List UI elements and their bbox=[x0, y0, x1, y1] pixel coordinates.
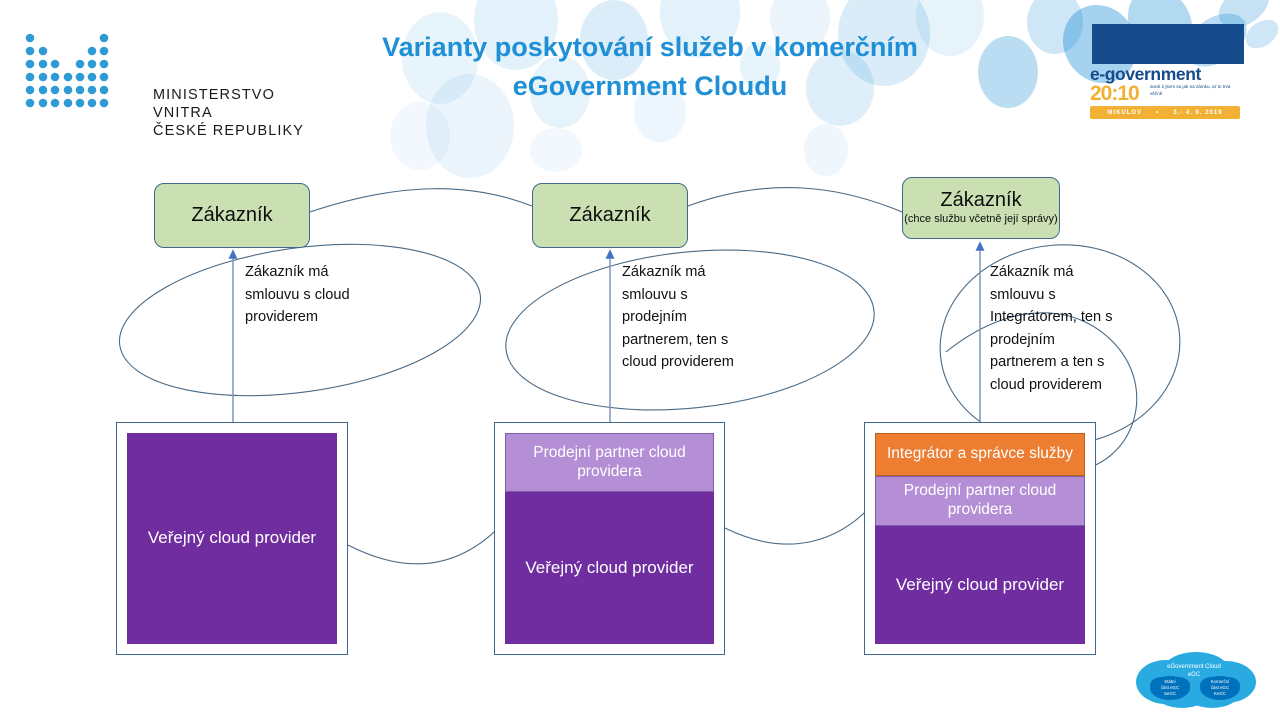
customer-title: Zákazník bbox=[191, 204, 272, 227]
egovernment-conference-logo: e-government 20:10 aneb 2 jsem sa jak na… bbox=[1086, 24, 1244, 114]
layer-integrator[interactable]: Integrátor a správce služby bbox=[875, 433, 1085, 476]
link-connector-1-2 bbox=[310, 189, 532, 212]
layer-sales-partner[interactable]: Prodejní partner cloud providera bbox=[505, 433, 714, 492]
egov-logo-banner bbox=[1092, 24, 1244, 64]
cloud-logo-state-2: část eGC bbox=[1161, 685, 1179, 690]
layer-public-cloud-provider[interactable]: Veřejný cloud provider bbox=[505, 492, 714, 644]
egov-logo-eventbar: MIKULOV • 3.- 4. 9. 2019 bbox=[1090, 106, 1240, 119]
contract-annotation-variant-1: Zákazník má smlouvu s cloud providerem bbox=[245, 261, 380, 329]
ministry-line-1: MINISTERSTVO VNITRA bbox=[153, 86, 318, 122]
layer-sales-partner[interactable]: Prodejní partner cloud providera bbox=[875, 476, 1085, 526]
link-connector-1-2-lower bbox=[348, 520, 506, 564]
page-title-line-1: Varianty poskytování služeb v komerčním bbox=[300, 28, 1000, 67]
customer-box-variant-2[interactable]: Zákazník bbox=[532, 183, 688, 248]
egov-logo-place: MIKULOV bbox=[1107, 110, 1142, 116]
layer-public-cloud-provider[interactable]: Veřejný cloud provider bbox=[127, 433, 337, 644]
cloud-logo-state-1: Státní bbox=[1164, 679, 1176, 684]
ministry-line-2: ČESKÉ REPUBLIKY bbox=[153, 122, 318, 140]
cloud-logo-state-3: SeGC bbox=[1164, 691, 1176, 696]
slide-canvas: MINISTERSTVO VNITRA ČESKÉ REPUBLIKY Vari… bbox=[0, 0, 1280, 720]
customer-subtitle: (chce službu včetně její správy) bbox=[904, 213, 1057, 226]
cloud-logo-commercial-3: KeGC bbox=[1214, 691, 1226, 696]
link-connector-2-3-lower bbox=[725, 505, 872, 544]
layer-public-cloud-provider[interactable]: Veřejný cloud provider bbox=[875, 526, 1085, 644]
provider-group-variant-3: Integrátor a správce služby Prodejní par… bbox=[864, 422, 1096, 655]
page-title-line-2: eGovernment Cloudu bbox=[300, 67, 1000, 106]
egovernment-cloud-logo: eGovernment Cloud eGC Státní část eGC Se… bbox=[1126, 648, 1262, 710]
cloud-logo-commercial-1: Komerční bbox=[1211, 679, 1231, 684]
customer-title: Zákazník bbox=[940, 189, 1021, 212]
provider-stack-variant-2: Prodejní partner cloud providera Veřejný… bbox=[505, 433, 714, 644]
customer-box-variant-1[interactable]: Zákazník bbox=[154, 183, 310, 248]
cloud-logo-commercial-2: část eGC bbox=[1211, 685, 1229, 690]
cloud-logo-title-1: eGovernment Cloud bbox=[1167, 664, 1221, 670]
ministry-of-interior-logo: MINISTERSTVO VNITRA ČESKÉ REPUBLIKY bbox=[18, 28, 318, 118]
egov-logo-year: 20:10 bbox=[1090, 82, 1139, 106]
customer-box-variant-3[interactable]: Zákazník (chce službu včetně její správy… bbox=[902, 177, 1060, 239]
provider-stack-variant-3: Integrátor a správce služby Prodejní par… bbox=[875, 433, 1085, 644]
cloud-logo-title-2: eGC bbox=[1188, 672, 1201, 678]
ministry-logo-text: MINISTERSTVO VNITRA ČESKÉ REPUBLIKY bbox=[153, 86, 318, 140]
contract-annotation-variant-2: Zákazník má smlouvu s prodejním partnere… bbox=[622, 261, 747, 374]
page-title: Varianty poskytování služeb v komerčním … bbox=[300, 28, 1000, 106]
egov-logo-tagline: aneb 2 jsem sa jak na zámku, ať to trvá … bbox=[1150, 84, 1242, 98]
egov-logo-date: 3.- 4. 9. 2019 bbox=[1173, 110, 1222, 116]
provider-group-variant-2: Prodejní partner cloud providera Veřejný… bbox=[494, 422, 725, 655]
provider-stack-variant-1: Veřejný cloud provider bbox=[127, 433, 337, 644]
egov-logo-separator: • bbox=[1156, 110, 1159, 116]
provider-group-variant-1: Veřejný cloud provider bbox=[116, 422, 348, 655]
ministry-dot-matrix-icon bbox=[18, 28, 128, 118]
link-connector-2-3 bbox=[688, 188, 902, 212]
contract-annotation-variant-3: Zákazník má smlouvu s Integrátorem, ten … bbox=[990, 261, 1118, 397]
customer-title: Zákazník bbox=[569, 204, 650, 227]
